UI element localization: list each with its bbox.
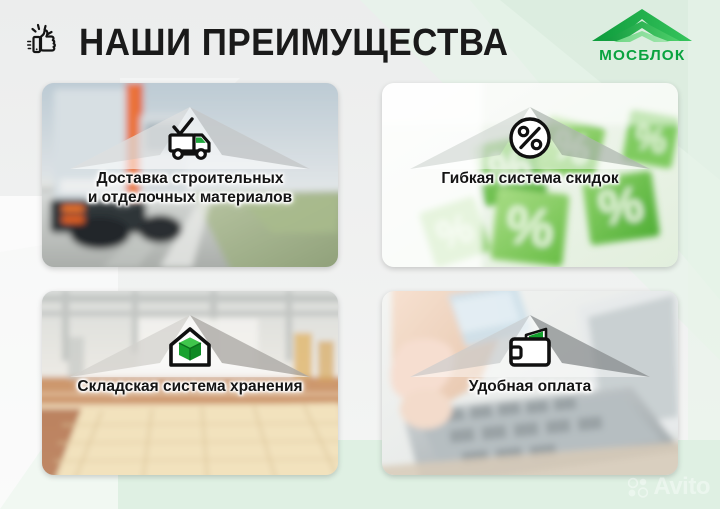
card-label-delivery: Доставка строительных и отделочных матер… bbox=[52, 169, 328, 207]
advantages-grid: Доставка строительных и отделочных матер… bbox=[42, 83, 678, 475]
advantage-card-storage[interactable]: Складская система хранения bbox=[42, 291, 338, 475]
logo-wordmark: МОСБЛОК bbox=[599, 47, 685, 64]
avito-watermark: Avito bbox=[628, 475, 710, 499]
svg-text:%: % bbox=[503, 195, 557, 260]
thumbs-up-icon bbox=[26, 23, 66, 61]
advantage-card-payment[interactable]: Удобная оплата bbox=[382, 291, 678, 475]
advantage-card-discounts[interactable]: % % % % % bbox=[382, 83, 678, 267]
wallet-icon bbox=[502, 321, 558, 373]
page-title: НАШИ ПРЕИМУЩЕСТВА bbox=[79, 22, 508, 64]
advantage-card-delivery[interactable]: Доставка строительных и отделочных матер… bbox=[42, 83, 338, 267]
warehouse-box-icon bbox=[162, 321, 218, 373]
mosblok-mountain-icon bbox=[588, 8, 696, 46]
card-label-discounts: Гибкая система скидок bbox=[392, 169, 668, 188]
brand-logo: МОСБЛОК bbox=[582, 8, 702, 70]
percent-circle-icon bbox=[502, 113, 558, 165]
card-label-payment: Удобная оплата bbox=[392, 377, 668, 396]
avito-dots-icon bbox=[628, 477, 649, 498]
delivery-truck-check-icon bbox=[162, 113, 218, 165]
avito-wordmark: Avito bbox=[653, 475, 710, 499]
card-label-storage: Складская система хранения bbox=[52, 377, 328, 396]
